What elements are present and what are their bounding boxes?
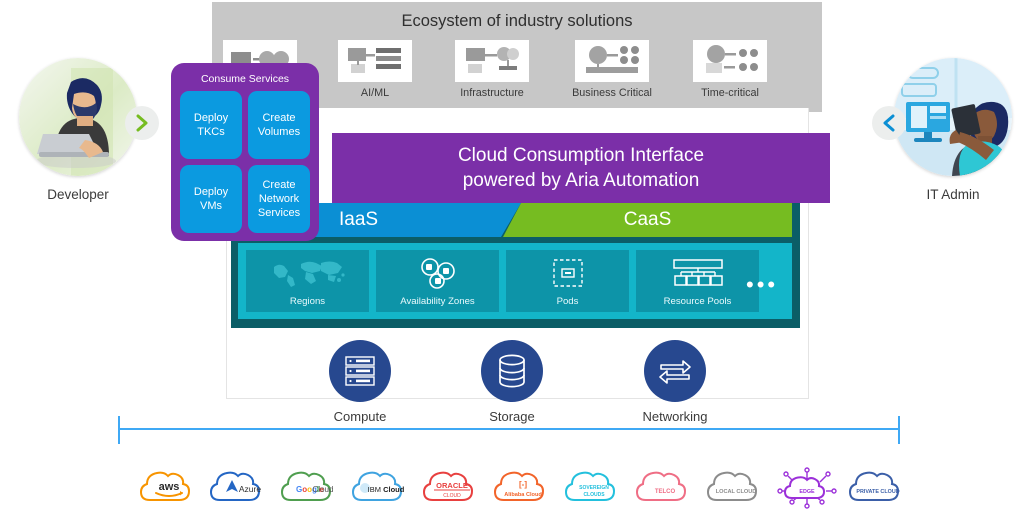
architecture-diagram: Ecosystem of industry solutions (0, 0, 1024, 513)
service-model-bar: IaaS CaaS (239, 203, 792, 237)
consume-tile-label: Deploy TKCs (184, 111, 238, 139)
caas-label: CaaS (624, 209, 672, 231)
cloud-provider-edge[interactable]: EDGE (774, 466, 840, 510)
cloud-provider-private-cloud[interactable]: PRIVATE CLOUD (845, 466, 911, 510)
infrastructure-icon (455, 40, 529, 82)
business-critical-icon (575, 40, 649, 82)
svg-text:ORACLE: ORACLE (436, 481, 468, 490)
caas-segment[interactable]: CaaS (503, 203, 792, 237)
svg-text:LOCAL CLOUD: LOCAL CLOUD (716, 489, 757, 495)
resource-tile-availability-zones[interactable]: Availability Zones (376, 250, 499, 312)
availability-zones-icon (416, 250, 460, 296)
consume-services-panel: Consume Services Deploy TKCs Create Volu… (171, 63, 319, 241)
cloud-provider-azure[interactable]: Azure (206, 466, 272, 510)
svg-text:Cloud: Cloud (313, 485, 334, 494)
cloud-provider-telco[interactable]: TELCO (632, 466, 698, 510)
pods-icon (551, 250, 585, 296)
resource-tile-label: Resource Pools (664, 296, 732, 307)
bracket-line (118, 428, 900, 430)
resource-overflow-ellipsis[interactable]: ••• (746, 274, 778, 296)
cloud-provider-alibaba-cloud[interactable]: [-] Alibaba Cloud (490, 466, 556, 510)
time-critical-icon (693, 40, 767, 82)
svg-text:CLOUDS: CLOUDS (583, 492, 605, 498)
svg-text:IBM Cloud: IBM Cloud (368, 485, 405, 494)
consume-tile-label: Create Network Services (252, 178, 306, 220)
resource-pools-icon (668, 250, 728, 296)
svg-text:TELCO: TELCO (655, 489, 676, 495)
cloud-provider-local-cloud[interactable]: LOCAL CLOUD (703, 466, 769, 510)
svg-text:PRIVATE CLOUD: PRIVATE CLOUD (856, 489, 899, 495)
infrastructure-item-networking[interactable]: Networking (615, 340, 735, 424)
infrastructure-item-label: Networking (615, 409, 735, 424)
infrastructure-row: Compute Storage (300, 340, 720, 435)
ecosystem-item-business-critical[interactable]: Business Critical (564, 40, 660, 99)
resource-tile-label: Regions (290, 296, 325, 307)
ecosystem-item-label: AI/ML (327, 87, 423, 99)
infrastructure-item-label: Compute (300, 409, 420, 424)
resource-tiles: Regions Availability Zones (246, 250, 776, 312)
bracket-tick-left (118, 416, 120, 444)
world-map-icon (268, 250, 348, 296)
svg-text:SOVEREIGN: SOVEREIGN (579, 485, 609, 491)
resource-tile-regions[interactable]: Regions (246, 250, 369, 312)
resource-tile-pods[interactable]: Pods (506, 250, 629, 312)
infrastructure-item-storage[interactable]: Storage (452, 340, 572, 424)
cloud-provider-ibm-cloud[interactable]: IBM Cloud (348, 466, 414, 510)
exchange-arrows-icon (644, 340, 706, 402)
consume-tile-create-network-services[interactable]: Create Network Services (248, 165, 310, 233)
cloud-scope-bracket (118, 428, 900, 429)
svg-text:Alibaba Cloud: Alibaba Cloud (504, 492, 542, 498)
bracket-tick-right (898, 416, 900, 444)
resource-tile-label: Pods (557, 296, 579, 307)
cloud-provider-aws[interactable]: aws (136, 466, 202, 510)
cloud-consumption-interface-bar: Cloud Consumption Interface powered by A… (332, 133, 830, 203)
ecosystem-item-label: Time-critical (682, 87, 778, 99)
ecosystem-item-label: Infrastructure (444, 87, 540, 99)
chevron-left-icon (872, 106, 906, 140)
consume-tile-deploy-vms[interactable]: Deploy VMs (180, 165, 242, 233)
cloud-provider-google-cloud[interactable]: Google Cloud (277, 466, 343, 510)
consume-tile-label: Create Volumes (252, 111, 306, 139)
resource-tile-label: Availability Zones (400, 296, 474, 307)
ecosystem-item-time-critical[interactable]: Time-critical (682, 40, 778, 99)
consume-services-title: Consume Services (171, 63, 319, 85)
cloud-provider-oracle-cloud[interactable]: ORACLE CLOUD (419, 466, 485, 510)
cci-line-2: powered by Aria Automation (463, 168, 700, 193)
resource-tile-resource-pools[interactable]: Resource Pools (636, 250, 759, 312)
developer-avatar (19, 58, 137, 176)
consume-tile-label: Deploy VMs (184, 185, 238, 213)
it-admin-avatar (894, 58, 1012, 176)
svg-text:EDGE: EDGE (799, 489, 815, 495)
ecosystem-item-ai-ml[interactable]: AI/ML (327, 40, 423, 99)
ecosystem-item-infrastructure[interactable]: Infrastructure (444, 40, 540, 99)
persona-label: Developer (3, 187, 153, 202)
svg-text:CLOUD: CLOUD (443, 493, 461, 499)
ecosystem-item-label: Business Critical (564, 87, 660, 99)
ecosystem-title: Ecosystem of industry solutions (212, 12, 822, 31)
cci-line-1: Cloud Consumption Interface (458, 143, 704, 168)
persona-label: IT Admin (878, 187, 1024, 202)
cloud-providers-row: aws Azure Google Cloud (136, 466, 888, 512)
svg-text:aws: aws (159, 481, 180, 493)
persona-developer[interactable]: Developer (3, 58, 153, 202)
iaas-label: IaaS (339, 209, 378, 231)
persona-it-admin[interactable]: IT Admin (878, 58, 1024, 202)
consume-tile-deploy-tkcs[interactable]: Deploy TKCs (180, 91, 242, 159)
consume-tile-create-volumes[interactable]: Create Volumes (248, 91, 310, 159)
server-rack-icon (329, 340, 391, 402)
infrastructure-item-label: Storage (452, 409, 572, 424)
infrastructure-item-compute[interactable]: Compute (300, 340, 420, 424)
svg-text:[-]: [-] (519, 480, 527, 489)
chevron-right-icon (125, 106, 159, 140)
svg-text:Azure: Azure (239, 484, 261, 494)
ai-ml-icon (338, 40, 412, 82)
cloud-provider-sovereign-clouds[interactable]: SOVEREIGN CLOUDS (561, 466, 627, 510)
database-cylinder-icon (481, 340, 543, 402)
